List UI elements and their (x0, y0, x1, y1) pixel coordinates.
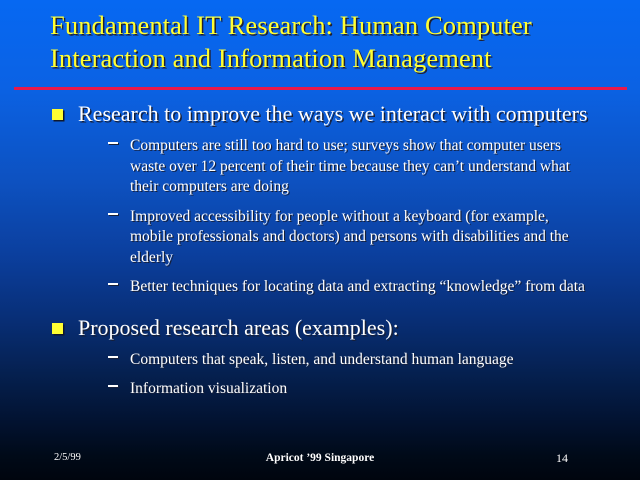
slide-body: Research to improve the ways we interact… (0, 100, 640, 401)
list-item: Better techniques for locating data and … (0, 277, 640, 298)
presentation-slide: Fundamental IT Research: Human Computer … (0, 0, 640, 480)
list-item-label: Better techniques for locating data and … (130, 277, 588, 298)
list-item: Computers that speak, listen, and unders… (0, 350, 640, 371)
dash-bullet-icon (108, 385, 118, 387)
list-item-label: Computers that speak, listen, and unders… (130, 350, 588, 371)
slide-title-block: Fundamental IT Research: Human Computer … (50, 9, 610, 75)
dash-bullet-icon (108, 356, 118, 358)
footer-page-number: 14 (556, 451, 568, 466)
list-item-label: Proposed research areas (examples): (78, 314, 592, 341)
list-item: Research to improve the ways we interact… (0, 100, 640, 127)
list-item: Improved accessibility for people withou… (0, 207, 640, 269)
dash-bullet-icon (108, 142, 118, 144)
list-item-label: Improved accessibility for people withou… (130, 207, 588, 269)
dash-bullet-icon (108, 283, 118, 285)
dash-bullet-icon (108, 213, 118, 215)
list-item-label: Computers are still too hard to use; sur… (130, 136, 588, 198)
list-item: Proposed research areas (examples): (0, 314, 640, 341)
list-item: Computers are still too hard to use; sur… (0, 136, 640, 198)
title-divider-rule (14, 87, 627, 90)
page-title: Fundamental IT Research: Human Computer … (50, 9, 610, 75)
yellow-square-bullet-icon (52, 323, 63, 334)
list-item-label: Research to improve the ways we interact… (78, 100, 592, 127)
footer-event-name: Apricot ’99 Singapore (0, 452, 640, 464)
yellow-square-bullet-icon (52, 109, 63, 120)
list-item-label: Information visualization (130, 379, 588, 400)
list-item: Information visualization (0, 379, 640, 400)
